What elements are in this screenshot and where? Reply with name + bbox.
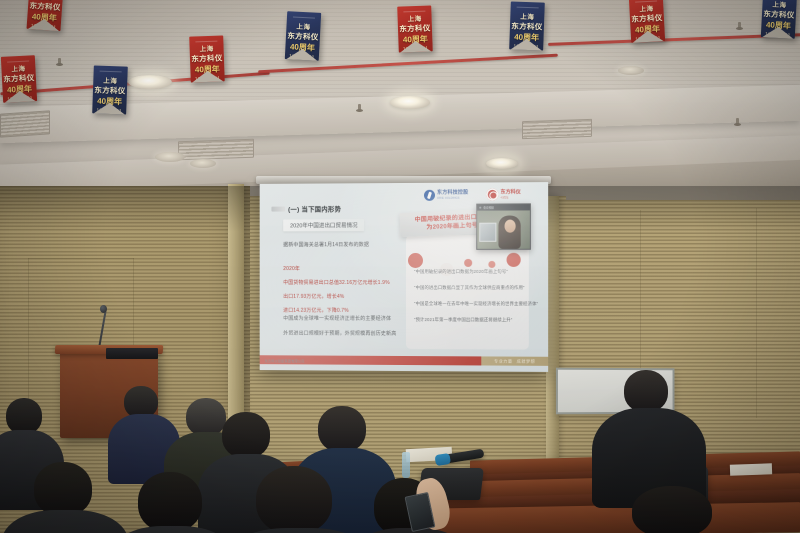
slide-logo-right: 东方科仪 40周年 bbox=[486, 188, 520, 200]
sprinkler-right bbox=[736, 22, 743, 31]
ceiling-downlight-6 bbox=[618, 66, 644, 75]
video-status-icon bbox=[479, 207, 481, 209]
ceiling-downlight-4 bbox=[190, 159, 216, 168]
banner-notch bbox=[398, 40, 432, 52]
video-call-overlay[interactable]: 会议视频 bbox=[476, 203, 531, 250]
banner-top-rule bbox=[195, 41, 217, 45]
ceiling-vent-right bbox=[522, 119, 592, 139]
slide-quote-card bbox=[406, 235, 529, 350]
banner-city: 上海 bbox=[772, 2, 786, 10]
slide-quote-4: “预计2021年第一季度中国出口数据还将继续上升” bbox=[414, 317, 512, 323]
conclusion-line-2: 外贸进出口规模好于预期，外贸规模再创历史新高 bbox=[283, 330, 396, 337]
slide-subtitle: 2020年中国进出口贸易情况 bbox=[283, 219, 364, 231]
head bbox=[186, 398, 226, 436]
anniversary-banner-7: 上海东方科仪40周年1981-2021 bbox=[509, 1, 545, 50]
anniversary-banner-3: 上海东方科仪40周年1981-2021 bbox=[92, 65, 128, 114]
head bbox=[256, 466, 332, 533]
section-title: (一) 当下国内形势 bbox=[288, 204, 341, 213]
slide-bubble-5 bbox=[507, 253, 521, 267]
banner-years: 1981-2021 bbox=[403, 46, 429, 53]
slide-bubble-4 bbox=[488, 261, 495, 268]
stat-year: 2020年 bbox=[283, 265, 390, 272]
head bbox=[138, 472, 202, 532]
water-bottle bbox=[402, 452, 410, 478]
slide-quote-3: “中国是全球唯一在去年中唯一实现经济增长的世界主要经济体” bbox=[414, 301, 538, 307]
banner-notch bbox=[3, 90, 38, 103]
banner-notch bbox=[761, 26, 796, 39]
banner-years: 1981-2021 bbox=[289, 53, 315, 60]
banner-notch bbox=[27, 18, 62, 31]
anniversary-banner-6: 上海东方科仪40周年1981-2021 bbox=[397, 5, 433, 52]
banner-top-rule bbox=[99, 71, 121, 77]
banner-top-rule bbox=[293, 16, 315, 22]
slide-section-heading: (一) 当下国内形势 bbox=[271, 204, 341, 213]
desk-notebook-far-right bbox=[730, 463, 772, 475]
slide-credit: 东方科仪控股集团有限公司 bbox=[265, 358, 305, 363]
slide-statistics-block: 2020年 中国货物贸易进出口总值32.16万亿元增长1.9% 出口17.93万… bbox=[283, 265, 390, 314]
banner-company: 东方科仪 bbox=[29, 1, 61, 12]
stat-line-total: 中国货物贸易进出口总值32.16万亿元增长1.9% bbox=[283, 279, 390, 286]
video-participant-face bbox=[505, 220, 516, 233]
wall-seam-horizontal bbox=[28, 258, 134, 259]
slide-bubble-3 bbox=[464, 259, 472, 267]
conference-room-photo: 上海东方科仪40周年1981-2021上海东方科仪40周年1981-2021上海… bbox=[0, 0, 800, 533]
banner-years: 1981-2021 bbox=[195, 76, 221, 83]
banner-notch bbox=[509, 38, 543, 50]
ceiling-vent-left bbox=[0, 110, 50, 137]
video-title: 会议视频 bbox=[483, 206, 493, 210]
footer-tag-2: 成就梦想 bbox=[517, 358, 536, 364]
company-logo-icon bbox=[424, 190, 435, 201]
stat-line-import: 进口14.23万亿元，下降0.7% bbox=[283, 307, 390, 314]
anniversary-banner-8: 上海东方科仪40周年1981-2021 bbox=[629, 0, 665, 43]
banner-city: 上海 bbox=[520, 14, 534, 21]
banner-company: 东方科仪 bbox=[399, 23, 430, 33]
banner-years: 1981-2021 bbox=[96, 108, 122, 115]
slide-source-note: 据新中国海关总署1月14日发布的数据 bbox=[283, 241, 369, 248]
banner-city: 上海 bbox=[639, 6, 653, 14]
sprinkler-far-right bbox=[734, 118, 741, 127]
anniversary-banner-4: 上海东方科仪40周年1981-2021 bbox=[189, 35, 225, 82]
banner-company: 东方科仪 bbox=[3, 73, 35, 84]
anniversary-banner-9: 上海东方科仪40周年1981-2021 bbox=[761, 0, 797, 39]
banner-years: 1981-2021 bbox=[765, 31, 791, 38]
head bbox=[34, 462, 92, 516]
anniversary-banner-1: 上海东方科仪40周年1981-2021 bbox=[27, 0, 64, 31]
banner-company: 东方科仪 bbox=[94, 85, 125, 95]
banner-top-rule bbox=[635, 0, 657, 4]
slide-logo-left: 东方科技控股 ORIE HOLDINGS bbox=[424, 190, 468, 201]
callout-line-2: 为2020年画上句号 bbox=[426, 222, 478, 231]
banner-notch bbox=[92, 102, 126, 114]
slide-bubble-1 bbox=[408, 253, 423, 268]
anniversary-banner-2: 上海东方科仪40周年1981-2021 bbox=[1, 55, 37, 103]
stat-line-export: 出口17.93万亿元，增长4% bbox=[283, 293, 390, 300]
banner-anniversary: 40周年 bbox=[290, 42, 315, 52]
heading-marker-icon bbox=[271, 207, 285, 212]
anniversary-banner-5: 上海东方科仪40周年1981-2021 bbox=[285, 11, 321, 61]
banner-city: 上海 bbox=[11, 66, 25, 74]
banner-company: 东方科仪 bbox=[763, 9, 795, 20]
podium-monitor bbox=[106, 348, 158, 359]
banner-notch bbox=[631, 30, 666, 43]
wall-seam-right-2 bbox=[756, 208, 757, 418]
banner-anniversary: 40周年 bbox=[403, 35, 428, 45]
slide-quote-1: “中国用破纪录的进出口数据为2020年画上句号” bbox=[414, 269, 508, 275]
projection-screen[interactable]: 东方科技控股 ORIE HOLDINGS 东方科仪 40周年 (一) 当下国内形… bbox=[260, 182, 548, 372]
banner-city: 上海 bbox=[200, 46, 214, 53]
banner-city: 上海 bbox=[103, 78, 117, 85]
banner-top-rule bbox=[516, 7, 538, 13]
banner-company: 东方科仪 bbox=[287, 31, 319, 42]
podium-mic-head-icon bbox=[100, 305, 107, 313]
banner-top-rule bbox=[769, 0, 791, 1]
conclusion-line-1: 中国成为全球唯一实现经济正增长的主要经济体 bbox=[283, 315, 396, 322]
banner-company: 东方科仪 bbox=[631, 13, 663, 24]
ceiling-downlight-5 bbox=[486, 158, 518, 169]
sprinkler-mid bbox=[356, 104, 363, 113]
ceiling-downlight-3 bbox=[155, 152, 185, 162]
presentation-slide: 东方科技控股 ORIE HOLDINGS 东方科仪 40周年 (一) 当下国内形… bbox=[260, 182, 548, 372]
ceiling-vent-mid bbox=[178, 139, 254, 161]
anniversary-badge-icon bbox=[486, 188, 498, 200]
ceiling-downlight-2 bbox=[390, 96, 430, 109]
footer-gold-segment: 专业力量 成就梦想 bbox=[481, 356, 548, 365]
head bbox=[624, 370, 668, 412]
banner-city: 上海 bbox=[408, 16, 422, 23]
footer-tag-1: 专业力量 bbox=[494, 358, 513, 364]
banner-company: 东方科仪 bbox=[511, 21, 542, 31]
video-thumbnail bbox=[479, 223, 496, 242]
sprinkler-left bbox=[56, 58, 63, 67]
head bbox=[632, 486, 712, 533]
head bbox=[222, 412, 270, 458]
anniversary-logo-sub: 40周年 bbox=[500, 195, 520, 199]
banner-anniversary: 40周年 bbox=[514, 33, 539, 43]
ceiling-downlight-1 bbox=[128, 75, 172, 89]
head bbox=[318, 406, 366, 452]
slide-quote-2: “中国的进出口数据凸显了其作为全球供应商重点的作用” bbox=[414, 285, 525, 291]
banner-anniversary: 40周年 bbox=[766, 20, 791, 30]
banner-anniversary: 40周年 bbox=[195, 65, 220, 75]
slide-conclusion-block: 中国成为全球唯一实现经济正增长的主要经济体 外贸进出口规模好于预期，外贸规模再创… bbox=[283, 315, 396, 337]
banner-company: 东方科仪 bbox=[191, 53, 222, 63]
banner-city: 上海 bbox=[296, 24, 310, 32]
banner-top-rule bbox=[7, 60, 29, 64]
head bbox=[6, 398, 42, 434]
video-feed bbox=[477, 210, 530, 248]
banner-notch bbox=[190, 70, 224, 82]
banner-years: 1981-2021 bbox=[513, 44, 539, 51]
banner-anniversary: 40周年 bbox=[97, 97, 122, 107]
banner-top-rule bbox=[403, 11, 425, 15]
logo-name-en: ORIE HOLDINGS bbox=[437, 195, 468, 200]
banner-notch bbox=[285, 48, 320, 61]
